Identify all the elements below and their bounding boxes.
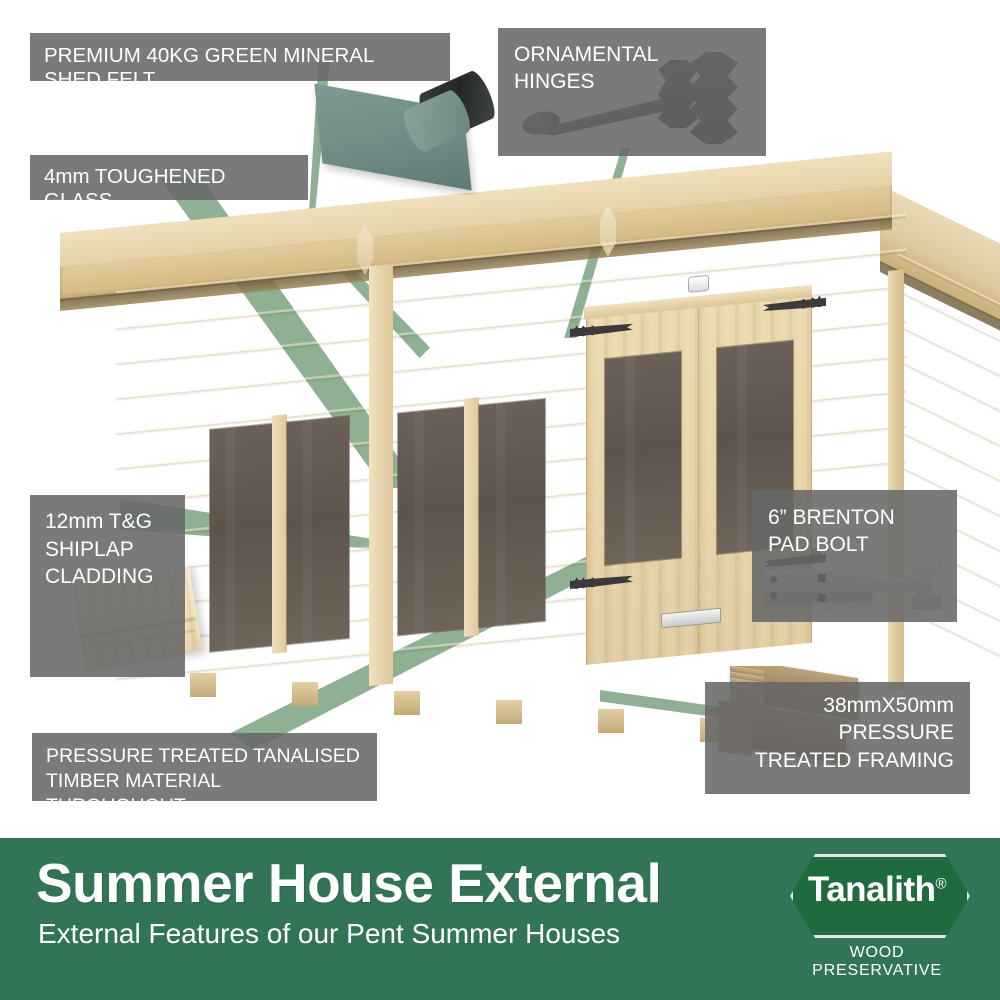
floor-bearer <box>598 709 624 733</box>
window-mullion <box>272 414 287 653</box>
callout-pad-bolt-line-2: PAD BOLT <box>768 531 941 558</box>
callout-shiplap-cladding-line-3: CLADDING <box>45 563 170 591</box>
callout-framing[interactable]: 38mmX50mm PRESSURE TREATED FRAMING <box>705 682 970 794</box>
tanalith-tagline: WOOD PRESERVATIVE <box>790 944 964 980</box>
tanalith-word-text: Tanalith <box>808 870 936 909</box>
window-pane <box>287 416 349 644</box>
window-mullion <box>464 397 479 636</box>
callout-shiplap-cladding-line-2: SHIPLAP <box>45 536 170 564</box>
callout-toughened-glass-line-1: 4mm TOUGHENED GLASS <box>44 165 294 213</box>
callout-ornamental-hinges[interactable]: ORNAMENTAL HINGES <box>498 28 766 156</box>
front-wall <box>116 214 906 711</box>
callout-pad-bolt[interactable]: 6” BRENTON PAD BOLT <box>752 490 957 622</box>
door-window-pane <box>605 352 681 565</box>
product-scene: PREMIUM 40KG GREEN MINERAL SHED FELT ORN… <box>0 0 1000 838</box>
callout-ornamental-hinges-line-1: ORNAMENTAL <box>514 42 750 69</box>
callout-shed-felt[interactable]: PREMIUM 40KG GREEN MINERAL SHED FELT <box>30 33 450 81</box>
callout-shiplap-cladding-line-1: 12mm T&G <box>45 508 170 536</box>
window-pane <box>479 399 545 627</box>
callout-framing-line-2: PRESSURE <box>721 719 954 746</box>
callout-pressure-treated-line-1: PRESSURE TREATED TANALISED <box>46 744 363 769</box>
callout-toughened-glass[interactable]: 4mm TOUGHENED GLASS <box>30 155 308 200</box>
floor-bearer <box>292 682 318 706</box>
page-subtitle: External Features of our Pent Summer Hou… <box>38 920 620 948</box>
footer-banner: Summer House External External Features … <box>0 838 1000 1000</box>
window-pane <box>398 407 464 635</box>
floor-bearer <box>394 691 420 715</box>
page-title: Summer House External <box>36 856 661 911</box>
callout-shed-felt-line-1: PREMIUM 40KG GREEN MINERAL SHED FELT <box>44 44 436 92</box>
callout-pressure-treated[interactable]: PRESSURE TREATED TANALISED TIMBER MATERI… <box>32 733 377 801</box>
window-pane <box>210 424 272 652</box>
wall-stud <box>369 264 393 686</box>
infographic-page: PREMIUM 40KG GREEN MINERAL SHED FELT ORN… <box>0 0 1000 1000</box>
callout-framing-line-3: TREATED FRAMING <box>721 747 954 774</box>
tanalith-wordmark: Tanalith® <box>790 870 964 910</box>
callout-framing-line-1: 38mmX50mm <box>721 692 954 719</box>
door-latch-plate <box>688 275 709 293</box>
corner-post <box>888 269 904 691</box>
side-wall <box>898 253 1000 688</box>
callout-shiplap-cladding[interactable]: 12mm T&G SHIPLAP CLADDING <box>30 495 185 677</box>
registered-trademark-icon: ® <box>936 875 947 892</box>
tanalith-logo: Tanalith® WOOD PRESERVATIVE <box>782 852 972 972</box>
floor-bearer <box>496 700 522 724</box>
callout-pad-bolt-line-1: 6” BRENTON <box>768 504 941 531</box>
callout-pressure-treated-line-2: TIMBER MATERIAL THROUGHOUT. <box>46 769 363 819</box>
callout-ornamental-hinges-line-2: HINGES <box>514 69 750 96</box>
